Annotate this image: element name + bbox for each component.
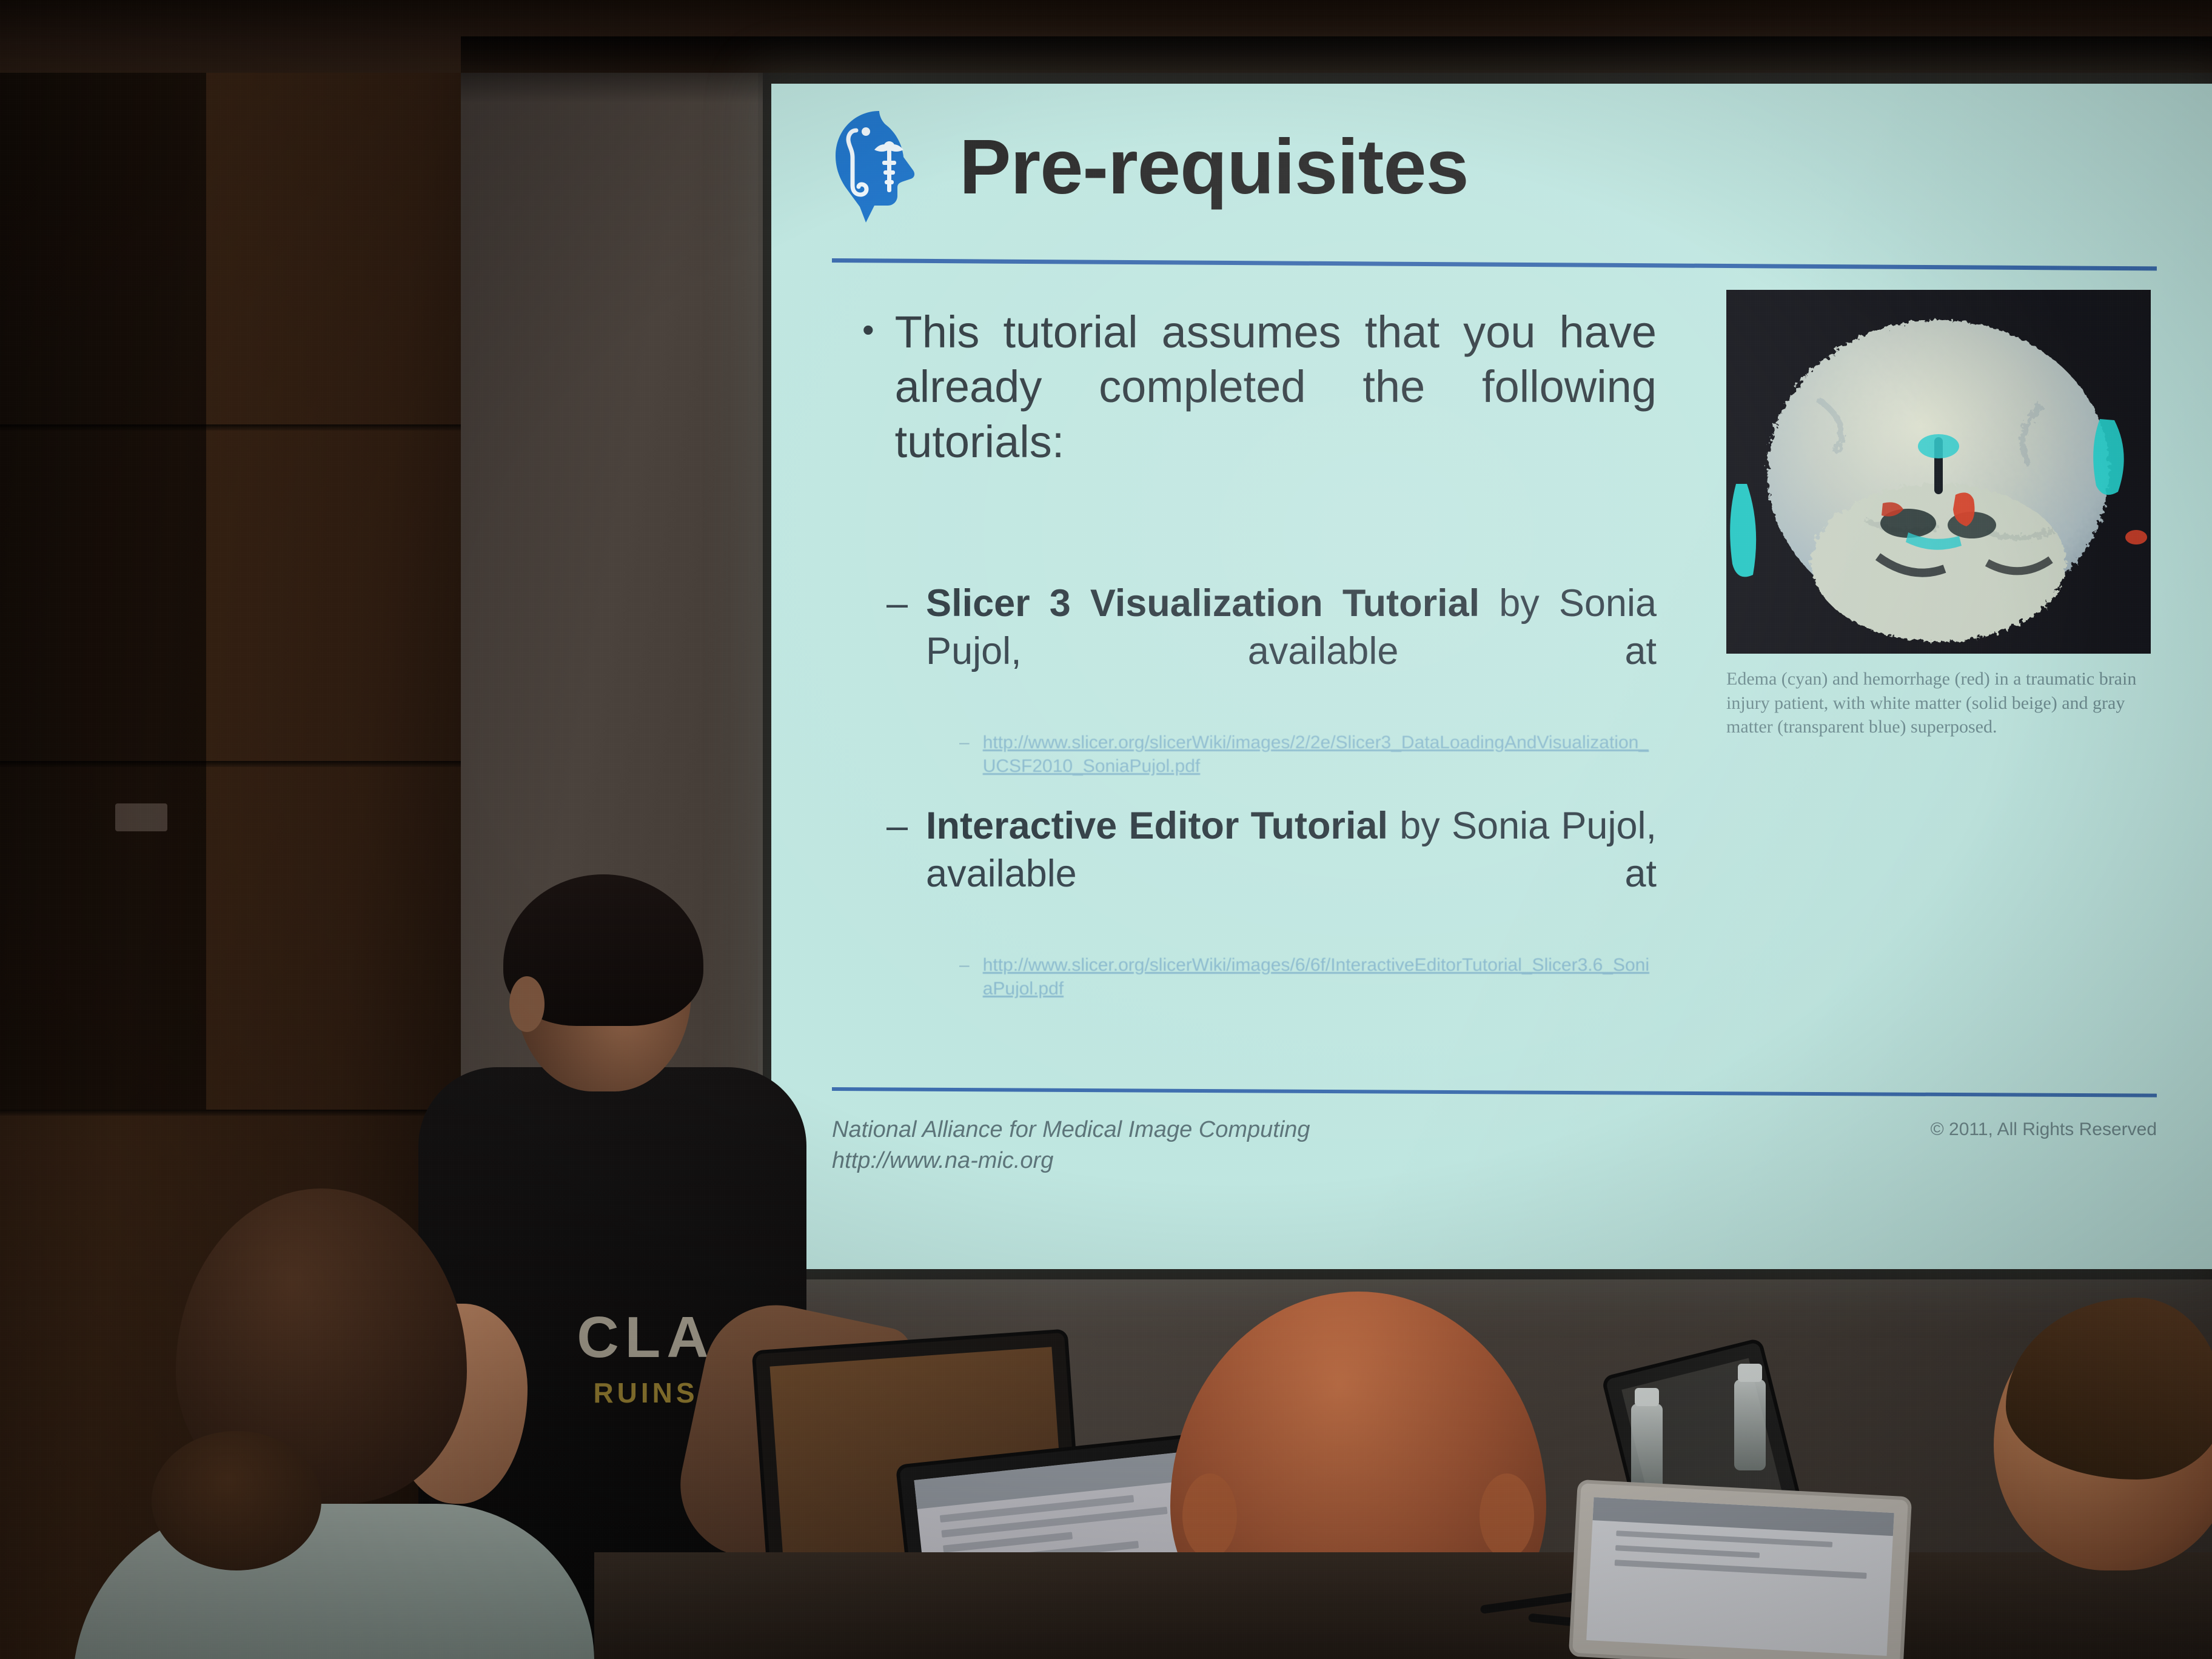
dash-marker-icon: – — [959, 731, 970, 754]
tutorial-title: Interactive Editor Tutorial — [926, 805, 1388, 847]
figure-block: Edema (cyan) and hemorrhage (red) in a t… — [1726, 290, 2151, 739]
page-title: Pre-requisites — [959, 129, 1469, 206]
bullet-dot-icon: • — [862, 305, 874, 354]
slide-header: Pre-requisites — [832, 96, 2154, 238]
attendee-ear-left — [1182, 1473, 1237, 1558]
laptop-open-silver-right[interactable] — [1572, 1483, 1908, 1659]
water-bottle — [1734, 1379, 1766, 1470]
dash-marker-icon: – — [886, 580, 908, 628]
attendee-ear-right — [1480, 1473, 1534, 1558]
figure-caption: Edema (cyan) and hemorrhage (red) in a t… — [1726, 667, 2151, 739]
attendee-right-edge — [1957, 1310, 2212, 1659]
list-item-link[interactable]: – http://www.slicer.org/slicerWiki/image… — [959, 731, 1657, 778]
footer-url: http://www.na-mic.org — [832, 1145, 1310, 1176]
tutorial-title: Slicer 3 Visualization Tutorial — [926, 582, 1480, 625]
list-item-link[interactable]: – http://www.slicer.org/slicerWiki/image… — [959, 954, 1657, 1000]
list-item: – Interactive Editor Tutorial by Sonia P… — [886, 802, 1657, 945]
brain-rendering-image — [1726, 290, 2151, 654]
conference-room-photo: Pre-requisites • This tutorial assumes t… — [0, 0, 2212, 1659]
water-bottle — [1631, 1404, 1663, 1495]
bottle-cap — [1738, 1364, 1762, 1382]
header-divider — [832, 258, 2157, 270]
footer-divider — [832, 1087, 2157, 1098]
attendee-shoulders — [73, 1504, 594, 1659]
laptop-text-line — [1614, 1560, 1867, 1578]
tutorial-link[interactable]: http://www.slicer.org/slicerWiki/images/… — [983, 954, 1657, 1000]
laptop-screen[interactable] — [1586, 1497, 1894, 1656]
laptop-text-line — [1615, 1545, 1760, 1558]
footer-organization: National Alliance for Medical Image Comp… — [832, 1114, 1310, 1145]
dash-marker-icon: – — [959, 954, 970, 977]
bottle-cap — [1635, 1388, 1659, 1406]
footer-copyright: © 2011, All Rights Reserved — [1931, 1114, 2157, 1140]
presenter-ear — [509, 976, 545, 1032]
bullet-primary-text: This tutorial assumes that you have alre… — [895, 305, 1657, 524]
bullet-primary: • This tutorial assumes that you have al… — [862, 305, 1657, 524]
tutorial-link[interactable]: http://www.slicer.org/slicerWiki/images/… — [983, 731, 1657, 778]
list-item: – Slicer 3 Visualization Tutorial by Son… — [886, 580, 1657, 723]
slide-footer: National Alliance for Medical Image Comp… — [832, 1114, 2157, 1177]
attendee-hair-bun — [152, 1431, 321, 1570]
dash-marker-icon: – — [886, 802, 908, 850]
attendee-hair — [2006, 1298, 2212, 1480]
slide-body: • This tutorial assumes that you have al… — [862, 305, 1657, 1025]
tutorial-list: – Slicer 3 Visualization Tutorial by Son… — [862, 580, 1657, 1000]
projected-slide: Pre-requisites • This tutorial assumes t… — [771, 84, 2212, 1269]
attendee-woman-front-left — [73, 1188, 594, 1659]
wall-outlet — [115, 803, 167, 831]
laptop-text-line — [1616, 1530, 1832, 1547]
na-mic-head-caduceus-logo — [832, 110, 926, 225]
